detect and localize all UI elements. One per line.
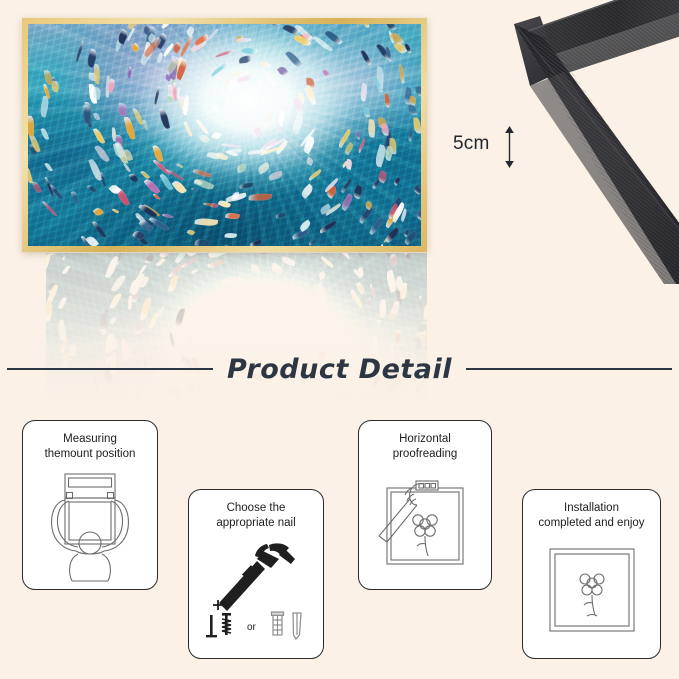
instruction-card-title: Installation completed and enjoy <box>529 490 653 531</box>
instruction-card-choose-nail[interactable]: Choose the appropriate nail <box>188 489 324 659</box>
dimension-label: 5cm <box>453 133 490 155</box>
framed-flower-picture-icon <box>538 543 646 647</box>
section-title-bar: Product Detail <box>0 348 679 390</box>
page-title: Product Detail <box>227 354 452 385</box>
fish-brushstroke <box>384 93 389 107</box>
instruction-card-title: Choose the appropriate nail <box>207 490 304 531</box>
fish-brushstroke <box>357 132 360 140</box>
artwork-canvas <box>28 24 421 246</box>
instruction-card-horizontal-proofreading[interactable]: Horizontal proofreading <box>358 420 492 590</box>
framed-artwork <box>22 18 427 252</box>
fish-brushstroke <box>118 104 126 117</box>
person-holding-frame-icon <box>38 470 142 582</box>
instruction-card-title: Measuring themount position <box>36 421 145 462</box>
card-illustration <box>23 462 157 589</box>
fish-brushstroke <box>367 119 375 137</box>
or-label: or <box>247 622 257 633</box>
double-headed-vertical-arrow <box>503 126 516 168</box>
card-illustration: or <box>189 531 323 658</box>
fish-brushstroke <box>232 191 239 198</box>
black-wood-frame-corner <box>468 0 679 284</box>
title-rule-left <box>7 368 213 370</box>
fish-brushstroke <box>224 232 236 239</box>
instruction-card-title: Horizontal proofreading <box>384 421 467 462</box>
card-illustration <box>359 462 491 589</box>
title-rule-right <box>466 368 672 370</box>
instruction-card-installation-complete[interactable]: Installation completed and enjoy <box>522 489 661 659</box>
card-illustration <box>523 531 660 658</box>
fish-brushstroke <box>93 64 100 84</box>
instruction-card-measuring[interactable]: Measuring themount position <box>22 420 158 590</box>
hammer-and-nail-icon: or <box>197 539 315 651</box>
hand-leveling-frame-icon <box>369 474 481 578</box>
product-detail-page: 5cm Product Detail Measuring themount po… <box>0 0 679 679</box>
fish-brushstroke <box>363 107 369 117</box>
